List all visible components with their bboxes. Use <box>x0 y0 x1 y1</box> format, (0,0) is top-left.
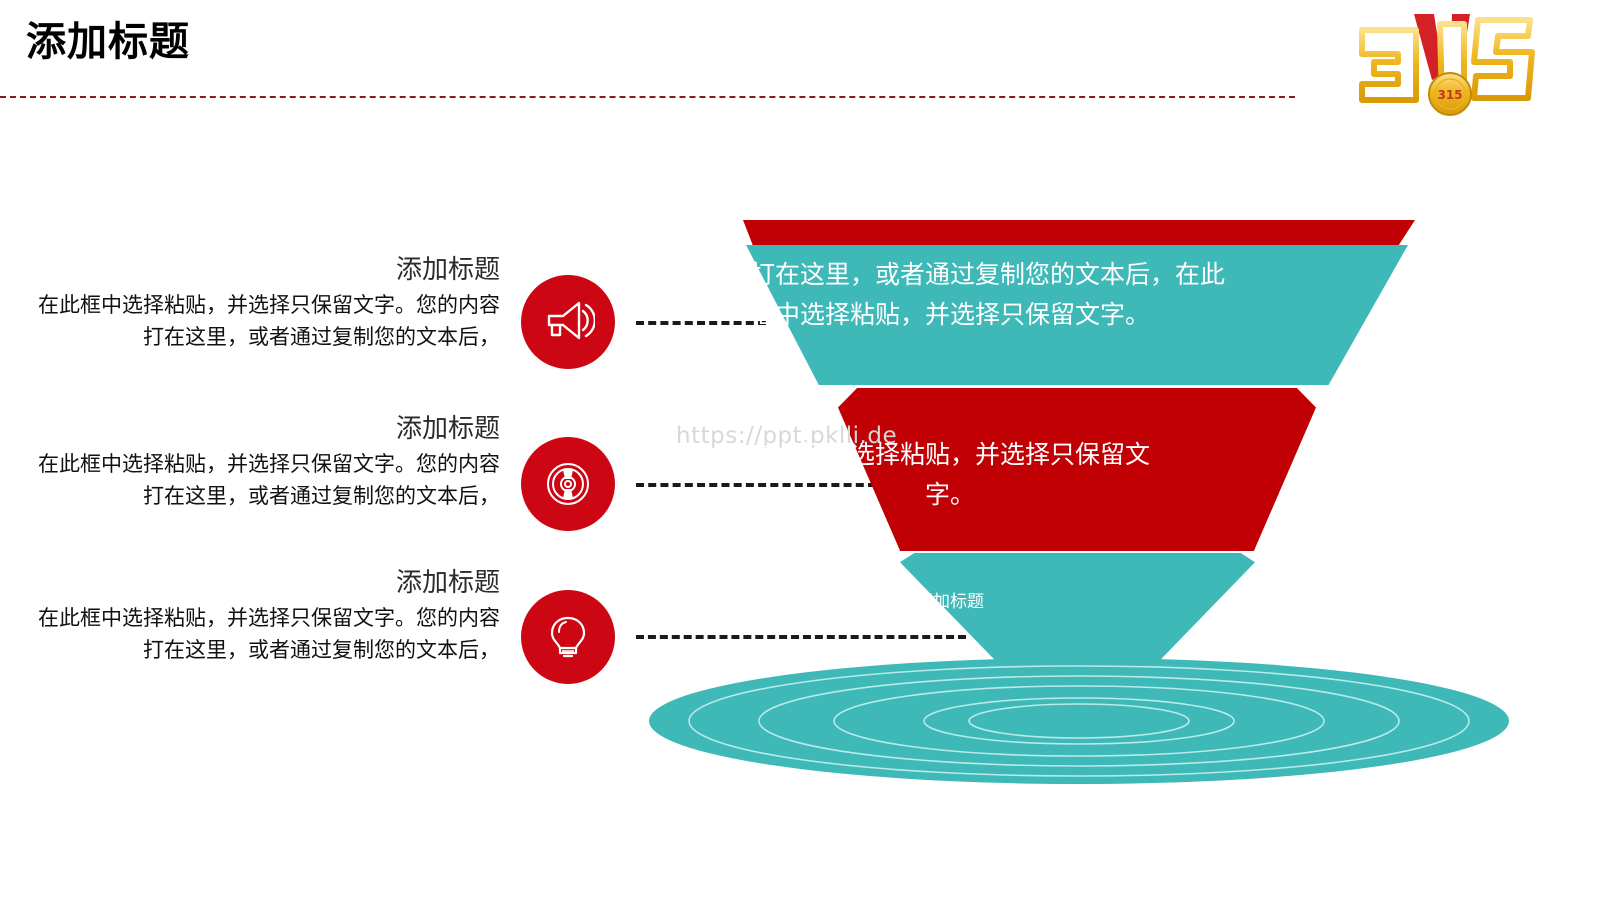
logo-digit-5 <box>1474 20 1532 98</box>
megaphone-icon[interactable] <box>521 275 615 369</box>
row-3-body: 在此框中选择粘贴，并选择只保留文字。您的内容打在这里，或者通过复制您的文本后， <box>20 602 500 666</box>
row-1-heading: 添加标题 <box>20 253 500 287</box>
row-1-body: 在此框中选择粘贴，并选择只保留文字。您的内容打在这里，或者通过复制您的文本后， <box>20 289 500 353</box>
row-3-text: 添加标题 在此框中选择粘贴，并选择只保留文字。您的内容打在这里，或者通过复制您的… <box>20 566 500 666</box>
disc-icon[interactable] <box>521 437 615 531</box>
disc-icon-glyph <box>541 457 595 511</box>
lightbulb-icon[interactable] <box>521 590 615 684</box>
watermark: https://ppt.pklli.de <box>676 423 897 449</box>
header-divider <box>0 96 1295 98</box>
row-2-body: 在此框中选择粘贴，并选择只保留文字。您的内容打在这里，或者通过复制您的文本后， <box>20 448 500 512</box>
slide-canvas: 添加标题 <box>0 0 1600 900</box>
row-3-heading: 添加标题 <box>20 566 500 600</box>
page-title: 添加标题 <box>26 18 190 66</box>
funnel-stage-1-body[interactable] <box>746 245 1408 385</box>
ripple-ellipse <box>648 657 1510 785</box>
logo-medal: 315 <box>1429 73 1471 115</box>
logo-315-icon: 315 <box>1352 6 1542 122</box>
megaphone-icon-glyph <box>541 295 595 349</box>
lightbulb-icon-glyph <box>541 610 595 664</box>
logo-digit-3 <box>1362 30 1416 100</box>
row-2-heading: 添加标题 <box>20 412 500 446</box>
logo-315: 315 <box>1352 6 1542 122</box>
row-2-text: 添加标题 在此框中选择粘贴，并选择只保留文字。您的内容打在这里，或者通过复制您的… <box>20 412 500 512</box>
funnel-stage-1-cap <box>743 220 1415 246</box>
ripple-ellipse-svg <box>648 657 1510 785</box>
funnel-stage-2-body[interactable] <box>838 388 1316 551</box>
logo-medal-label: 315 <box>1437 88 1462 102</box>
row-1-text: 添加标题 在此框中选择粘贴，并选择只保留文字。您的内容打在这里，或者通过复制您的… <box>20 253 500 353</box>
